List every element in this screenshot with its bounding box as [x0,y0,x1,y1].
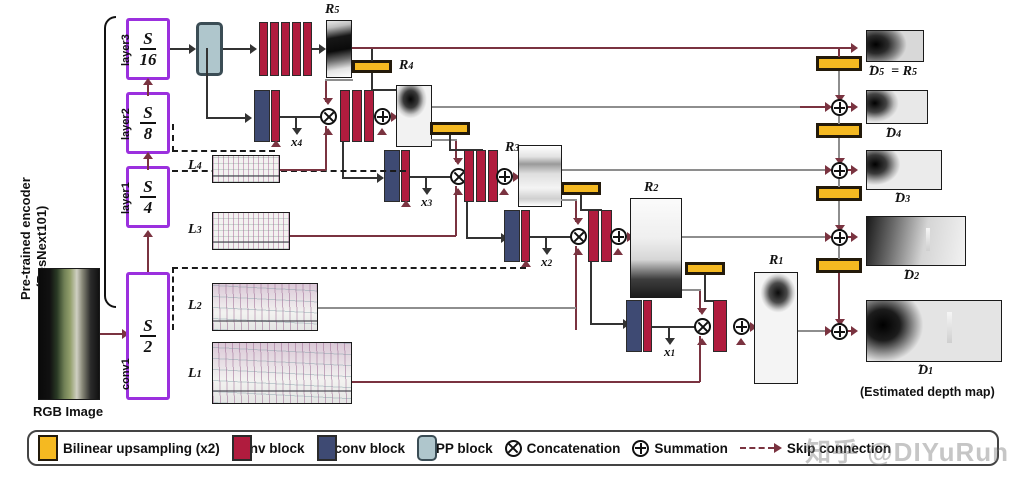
conv-block[interactable] [281,22,290,76]
arrowhead-skip-to-conv4 [271,140,281,147]
edge-sum-to-D1 [848,330,854,332]
residual-map-R5 [326,20,352,78]
architecture-diagram: Pre-trained encoder (ResNext101) RGB Ima… [0,0,1027,486]
encoder-stage-conv1[interactable]: S 2 [126,272,170,400]
arrowhead-skip-to-conv2 [521,260,531,267]
encoder-stage-layer2[interactable]: S 8 [126,92,170,154]
edge-stage2-out [530,236,572,238]
edge-stage4-out [280,116,322,118]
bilinear-upsampling-block[interactable] [430,122,470,135]
rail-R4-to-output [432,106,830,108]
skip-connection-layer2-horizontal [172,150,275,152]
edge-conv4-down [342,142,344,178]
conv-block[interactable] [521,210,530,262]
depth-D1-pole [947,312,952,343]
encoder-stage-layer1-fraction: S 4 [140,178,156,216]
edge-map-L2-label: L2 [188,298,202,314]
edge-conv2-to-upconv1 [590,323,626,325]
encoder-stage-layer3[interactable]: S 16 [126,18,170,80]
legend-label-bilinear-upsampling: Bilinear upsampling (x2) [63,441,220,456]
feature-x3-label: x3 [421,194,432,210]
spine-D3-down [838,179,840,187]
encoder-stage-layer1-numerator: S [140,178,156,195]
circle-plus-icon [632,440,649,457]
bilinear-upsampling-icon [38,435,58,461]
conv-block[interactable] [643,300,652,352]
conv-block[interactable] [401,150,410,202]
skip-connection-conv1-horizontal [172,267,526,269]
edge-sum-to-D3 [848,169,854,171]
upconv-block[interactable] [384,150,400,202]
edge-stage1-out [652,326,696,328]
residual-map-R3 [518,145,562,207]
arrowhead-aspp-to-upconv5 [245,113,252,123]
conv-block[interactable] [292,22,301,76]
encoder-group-label-line1: Pre-trained encoder [18,177,33,300]
summation-icon [496,168,513,185]
edge-sum-to-D2 [848,236,854,238]
edge-conv3-down [466,202,468,238]
depth-output-D3 [866,150,942,190]
feature-x1-label: x1 [664,344,675,360]
conv-block[interactable] [270,22,279,76]
upconv-block[interactable] [504,210,520,262]
aspp-block[interactable] [196,22,223,76]
legend-item-aspp-block: ASPP block [417,441,493,456]
arrowhead-layer2-to-layer3 [143,78,153,85]
conv-block[interactable] [464,150,474,202]
encoder-stage-layer2-numerator: S [140,104,156,121]
bilinear-upsampling-block[interactable] [816,56,862,71]
edge-r3-bottom-rail [561,199,577,201]
legend: Bilinear upsampling (x2) Conv block Upco… [27,430,999,466]
arrowhead-R5-to-D5 [851,43,858,53]
rail-R5-to-output [352,47,856,49]
encoder-brace [104,16,116,308]
circle-x-icon [505,440,522,457]
depth-output-D1 [866,300,1002,362]
arrowhead-conv5-to-r5 [319,44,326,54]
summation-icon [610,228,627,245]
edge-r2-down-to-concat1 [699,290,701,312]
edge-r4-bottom-rail [431,139,457,141]
edge-L2-connector [318,307,576,309]
encoder-stage-conv1-name: conv1 [120,358,132,390]
residual-map-R5-label: R5 [325,2,339,18]
residual-map-R2-label: R2 [644,180,658,196]
spine-D4-down [838,116,840,124]
encoder-stage-layer1-name: layer1 [120,182,132,214]
rgb-input-image [38,268,100,400]
residual-map-R4-label: R4 [399,58,413,74]
edge-conv4-to-upconv3 [342,177,380,179]
summation-icon [831,323,848,340]
edge-map-L1-label: L1 [188,366,202,382]
residual-map-R1-label: R1 [769,253,783,269]
spine-D2-down [838,246,840,259]
edge-upsample-down-3 [449,135,451,150]
arrowhead-layer3-to-aspp [189,44,196,54]
edge-conv1-to-layer1 [147,236,149,272]
edge-conv3-to-upconv2 [466,237,504,239]
upconv-block-icon [317,435,337,461]
concatenation-icon [694,318,711,335]
arrowhead-sum4-bottom [377,128,387,135]
edge-layer1-to-layer2 [147,158,149,170]
conv-block[interactable] [340,90,350,142]
residual-map-R2 [630,198,682,298]
edge-r2-bottom-rail [682,289,701,291]
conv-block[interactable] [259,22,268,76]
edge-L4-to-concat4 [325,126,327,170]
feature-x2-label: x2 [541,254,552,270]
encoder-stage-layer3-fraction: S 16 [140,30,157,68]
residual-map-R4 [396,85,432,147]
legend-item-summation: Summation [632,440,728,457]
summation-icon [733,318,750,335]
encoder-stage-conv1-numerator: S [140,317,156,334]
encoder-stage-layer3-denominator: 16 [140,51,157,68]
arrowhead-layer1-to-layer2 [143,152,153,159]
conv-block-icon [232,435,252,461]
edge-r5-bottom-rail [325,79,353,81]
conv-block[interactable] [713,300,727,352]
feature-x4-label: x4 [291,134,302,150]
legend-label-summation: Summation [654,441,728,456]
arrowhead-to-upconv3 [377,173,384,183]
skip-connection-layer2-vertical [172,124,174,152]
edge-L2-to-concat2 [575,246,577,330]
rail-R2-to-output [682,236,830,238]
arrowhead-sum3-bottom [499,188,509,195]
depth-output-D2 [866,216,966,266]
depth-output-D2-label: ̃D2 [904,268,919,284]
summation-icon [831,229,848,246]
spine-upsample2-down [838,273,840,321]
bilinear-upsampling-block[interactable] [816,186,862,201]
edge-aspp-out [223,48,253,50]
spine-D5-down [838,47,840,57]
concatenation-icon [570,228,587,245]
encoder-stage-conv1-fraction: S 2 [140,317,156,355]
dashed-arrow-icon [740,443,782,453]
conv-block[interactable] [352,90,362,142]
bilinear-upsampling-block[interactable] [685,262,725,275]
aspp-block-icon [417,435,437,461]
summation-icon [831,162,848,179]
edge-map-L1 [212,342,352,404]
encoder-stage-layer2-fraction: S 8 [140,104,156,142]
edge-rgb-to-conv1 [100,333,124,335]
edge-r3-down-to-concat2 [575,200,577,222]
bilinear-upsampling-block[interactable] [561,182,601,195]
encoder-stage-layer1-denominator: 4 [140,199,156,216]
edge-map-L3-label: L3 [188,222,202,238]
depth-output-D1-caption: (Estimated depth map) [860,385,995,399]
depth-output-D5-label: ̃D5 = R5 [869,64,917,80]
edge-L3-connector [290,235,456,237]
spine-upsample3-down [838,201,840,227]
spine-upsample5-down [838,71,840,97]
arrowhead-sum2-bottom [613,248,623,255]
legend-item-concatenation: Concatenation [505,440,621,457]
conv-block[interactable] [364,90,374,142]
summation-icon [374,108,391,125]
edge-L4-connector [280,169,326,171]
conv-block[interactable] [476,150,486,202]
residual-map-R3-label: R3 [505,140,519,156]
edge-L1-to-concat1 [699,336,701,382]
depth-output-D4 [866,90,928,124]
bilinear-upsampling-block[interactable] [352,60,392,73]
depth-output-D4-label: ̃D4 [886,126,901,142]
legend-item-upconv-block: Upconv block [317,441,406,456]
depth-output-D5 [866,30,924,62]
concatenation-icon [320,108,337,125]
edge-stage3-out [410,176,452,178]
edge-map-L4 [212,155,280,183]
edge-aspp-branch-to-upconv [206,117,248,119]
edge-upsample-down-1 [704,275,706,301]
arrowhead-sum1-bottom [736,338,746,345]
edge-map-L2 [212,283,318,331]
legend-item-bilinear-upsampling: Bilinear upsampling (x2) [38,435,220,461]
depth-output-D3-label: ̃D3 [895,191,910,207]
edge-layer2-to-layer3 [147,84,149,96]
arrowhead-skip-to-conv3 [401,200,411,207]
conv-block[interactable] [588,210,599,262]
depth-output-D1-label: ̃D1 [918,363,933,379]
encoder-stage-layer3-name: layer3 [120,34,132,66]
conv-block[interactable] [303,22,312,76]
upconv-block[interactable] [254,90,270,142]
encoder-stage-layer2-denominator: 8 [140,125,156,142]
edge-map-L3 [212,212,290,250]
edge-sum-to-D4 [848,106,854,108]
encoder-stage-layer3-numerator: S [140,30,157,47]
encoder-stage-layer1[interactable]: S 4 [126,166,170,228]
legend-item-conv-block: Conv block [232,441,305,456]
edge-conv2-down [590,262,592,324]
legend-item-skip-connection: Skip connection [740,441,891,456]
rgb-image-label: RGB Image [33,404,103,419]
edge-r5-down-to-concat4 [325,80,327,102]
edge-upsample-down-2 [580,195,582,210]
edge-r5-to-upsample [371,48,373,61]
summation-icon [831,99,848,116]
legend-label-concatenation: Concatenation [527,441,621,456]
edge-map-L4-label: L4 [188,158,202,174]
encoder-stage-conv1-denominator: 2 [140,338,156,355]
arrowhead-conv1-to-layer1 [143,230,153,237]
residual-map-R1 [754,272,798,384]
edge-upsample-down-4 [371,73,373,90]
rail-R3-to-output [562,169,830,171]
encoder-stage-layer2-name: layer2 [120,108,132,140]
edge-L1-connector [352,381,700,383]
upconv-block[interactable] [626,300,642,352]
skip-connection-conv1-vertical [172,267,174,330]
depth-D2-pole [926,228,930,251]
edge-aspp-branch-down [206,48,208,118]
spine-upsample4-down [838,138,840,160]
edge-r4-down-to-concat3 [455,140,457,162]
edge-L3-to-concat3 [455,186,457,236]
conv-block[interactable] [271,90,280,142]
bilinear-upsampling-block[interactable] [816,123,862,138]
legend-label-skip-connection: Skip connection [787,441,891,456]
arrowhead-aspp-to-conv-stack5 [250,44,257,54]
bilinear-upsampling-block[interactable] [816,258,862,273]
